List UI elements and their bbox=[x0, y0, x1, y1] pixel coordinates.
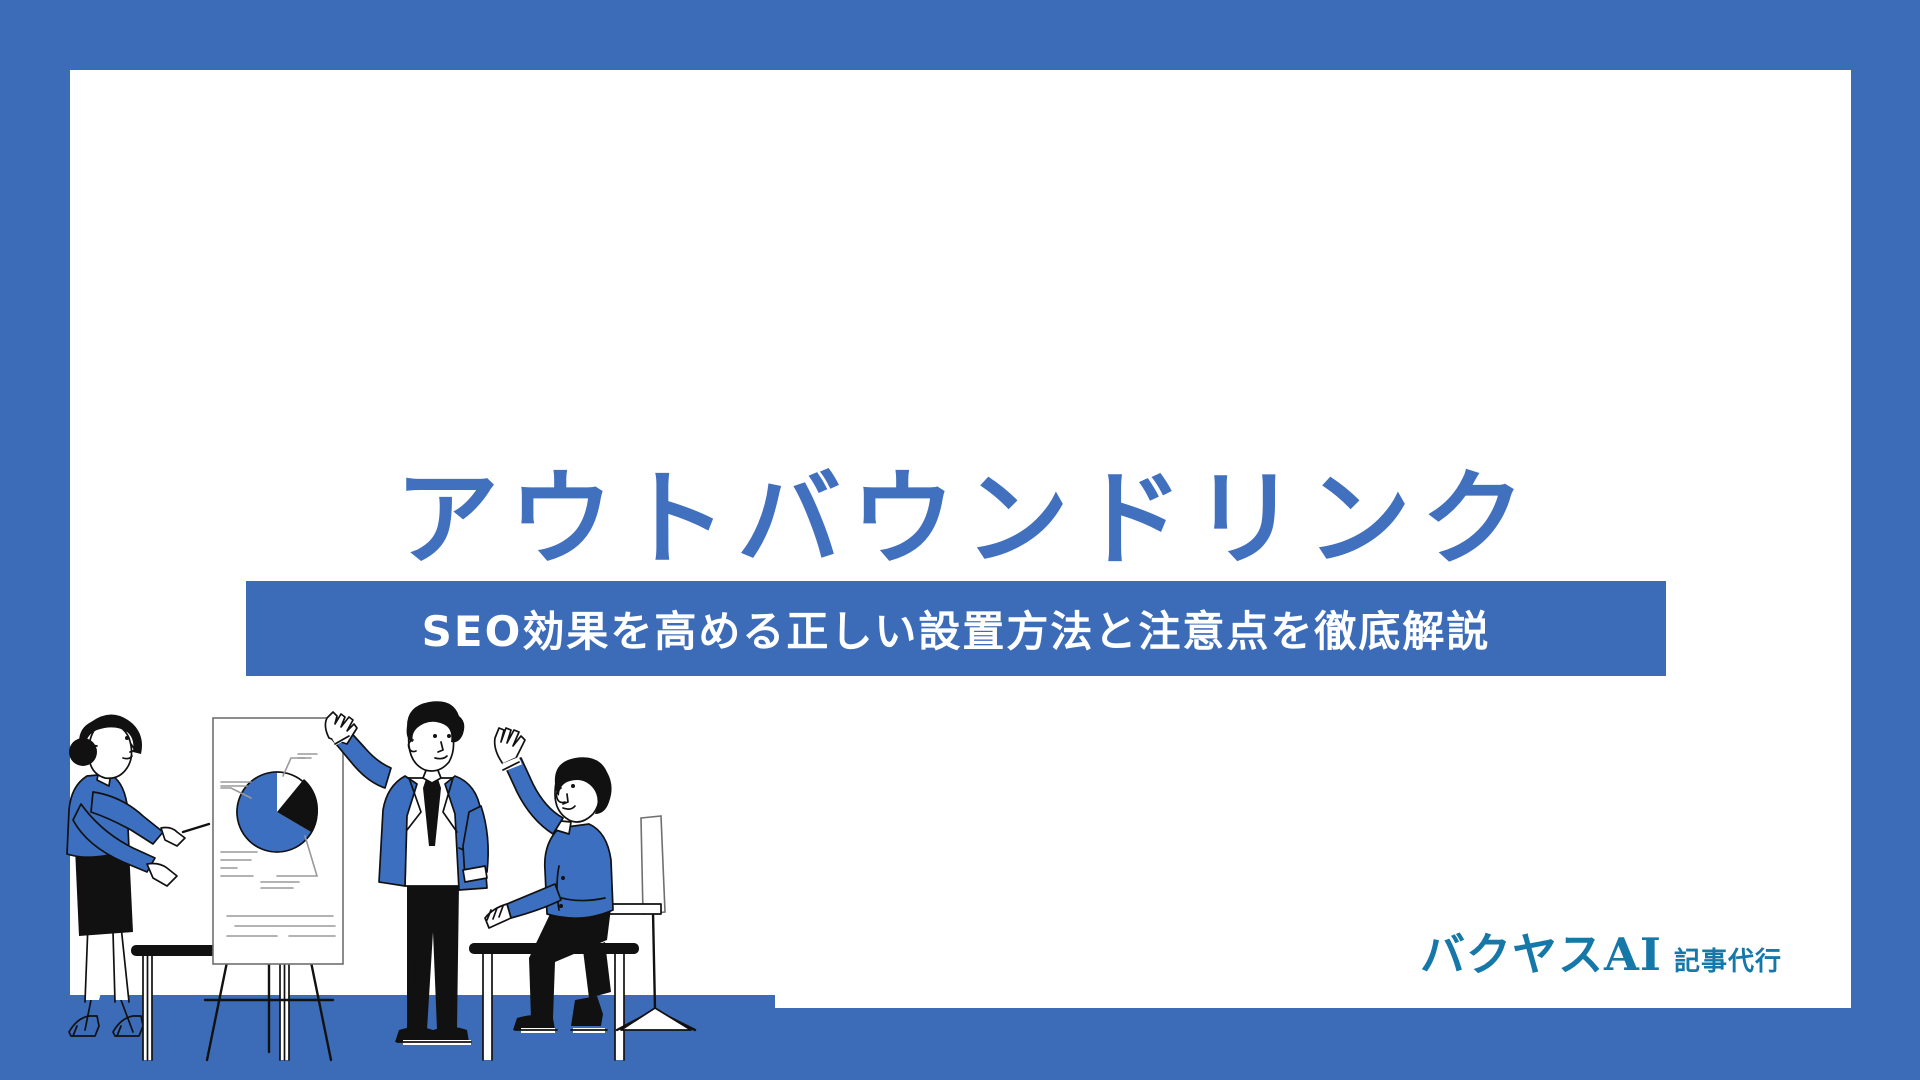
figure-man-standing bbox=[325, 701, 488, 1045]
figure-seated-person bbox=[485, 728, 695, 1033]
subtitle-banner: SEO効果を高める正しい設置方法と注意点を徹底解説 bbox=[246, 581, 1666, 676]
subtitle-text: SEO効果を高める正しい設置方法と注意点を徹底解説 bbox=[422, 598, 1491, 659]
office-team-presentation-illustration: .bl { fill: #3D6FC0; } .dk { fill: #1111… bbox=[55, 700, 775, 1080]
slide-canvas: .bl { fill: #3D6FC0; } .dk { fill: #1111… bbox=[0, 0, 1920, 1080]
figure-woman-pointing bbox=[67, 714, 209, 1036]
brand-logo-name: バクヤスAI bbox=[1420, 918, 1662, 983]
brand-logo-service: 記事代行 bbox=[1674, 941, 1782, 978]
brand-logo: バクヤスAI 記事代行 bbox=[1420, 918, 1782, 983]
page-title: アウトバウンドリンク bbox=[0, 465, 1920, 574]
